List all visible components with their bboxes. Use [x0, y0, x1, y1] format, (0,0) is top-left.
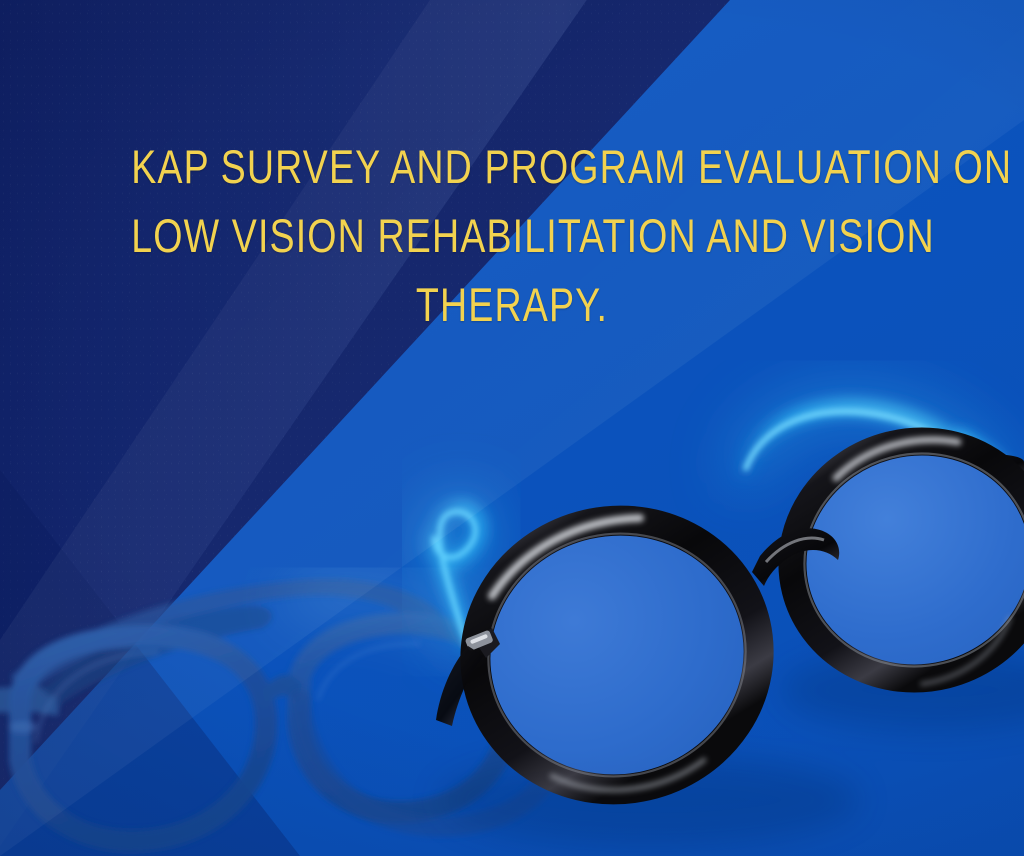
title-line-3: THERAPY. [131, 270, 893, 339]
background-vignette [0, 0, 1024, 856]
poster-title: KAP SURVEY AND PROGRAM EVALUATION ON LOW… [0, 132, 1024, 339]
poster-canvas: KAP SURVEY AND PROGRAM EVALUATION ON LOW… [0, 0, 1024, 856]
title-line-1: KAP SURVEY AND PROGRAM EVALUATION ON [131, 132, 893, 201]
title-line-2: LOW VISION REHABILITATION AND VISION [131, 201, 893, 270]
